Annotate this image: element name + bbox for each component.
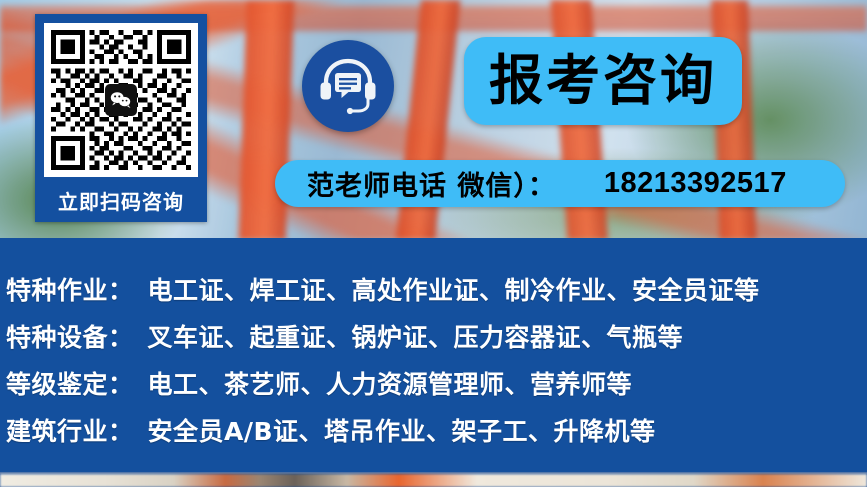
promo-poster: 立即扫码咨询 报考咨询 范老师电话 微信）： 18213392517 特种作业：… <box>0 0 867 487</box>
service-category-label: 等级鉴定： <box>6 370 134 399</box>
service-list-block: 特种作业：电工证、焊工证、高处作业证、制冷作业、安全员证等 特种设备：叉车证、起… <box>0 238 867 474</box>
consultation-title-badge[interactable]: 报考咨询 <box>464 37 742 125</box>
service-line-special-operations: 特种作业：电工证、焊工证、高处作业证、制冷作业、安全员证等 <box>6 271 760 307</box>
headset-glyph <box>318 57 378 115</box>
service-items-label: 安全员A/B证、塔吊作业、架子工、升降机等 <box>148 417 656 446</box>
service-line-grade-certification: 等级鉴定：电工、茶艺师、人力资源管理师、营养师等 <box>6 365 632 401</box>
wechat-glyph <box>110 91 132 109</box>
qr-card[interactable]: 立即扫码咨询 <box>35 14 207 222</box>
wechat-icon <box>105 84 137 116</box>
service-line-special-equipment: 特种设备：叉车证、起重证、锅炉证、压力容器证、气瓶等 <box>6 318 683 354</box>
qr-code-area[interactable] <box>44 23 198 177</box>
qr-card-label: 立即扫码咨询 <box>38 186 204 215</box>
headset-support-icon <box>302 40 394 132</box>
bottom-photo-strip <box>0 474 867 487</box>
service-items-label: 电工证、焊工证、高处作业证、制冷作业、安全员证等 <box>148 276 760 305</box>
page-title: 报考咨询 <box>489 54 717 108</box>
service-items-label: 叉车证、起重证、锅炉证、压力容器证、气瓶等 <box>148 323 684 352</box>
service-category-label: 特种作业： <box>6 276 134 305</box>
service-category-label: 特种设备： <box>6 323 134 352</box>
contact-phone-number[interactable]: 18213392517 <box>604 167 787 200</box>
service-line-construction-industry: 建筑行业：安全员A/B证、塔吊作业、架子工、升降机等 <box>6 412 656 448</box>
contact-label: 范老师电话 微信）： <box>307 164 556 203</box>
service-category-label: 建筑行业： <box>6 417 134 446</box>
contact-pill[interactable]: 范老师电话 微信）： 18213392517 <box>275 160 845 207</box>
service-items-label: 电工、茶艺师、人力资源管理师、营养师等 <box>148 370 633 399</box>
